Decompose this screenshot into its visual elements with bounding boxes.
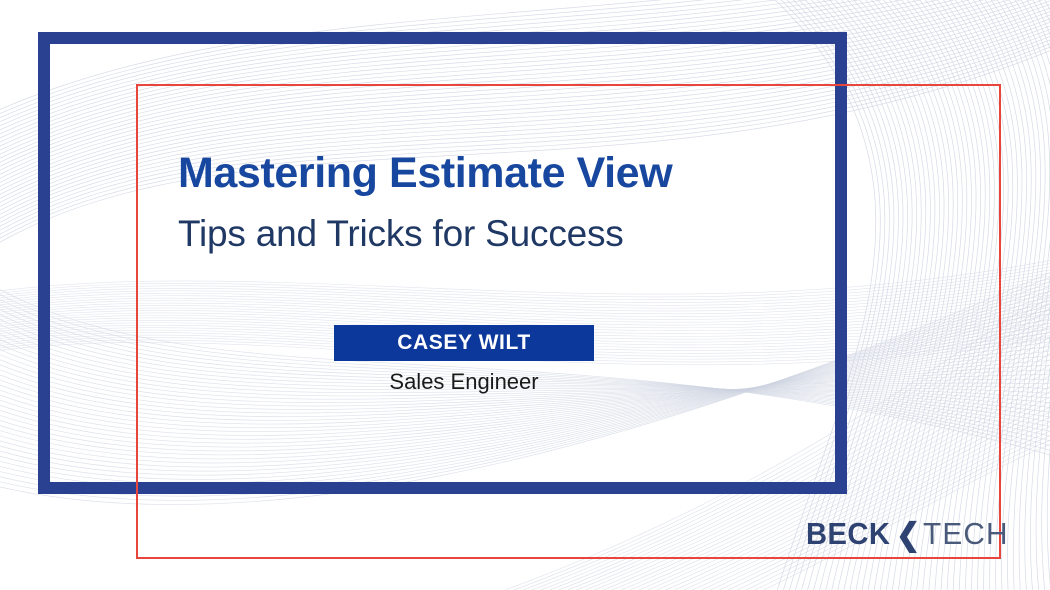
logo-tech-text: TECH	[923, 516, 1009, 552]
slide-content: Mastering Estimate View Tips and Tricks …	[0, 0, 1050, 590]
presenter-name-badge: CASEY WILT	[334, 325, 594, 361]
page-title: Mastering Estimate View	[178, 151, 672, 196]
presenter-name: CASEY WILT	[397, 331, 531, 355]
chevron-left-icon: ❮	[896, 519, 921, 550]
becktech-logo: BECK ❮ TECH	[806, 516, 1013, 552]
page-subtitle: Tips and Tricks for Success	[178, 214, 624, 255]
presenter-role: Sales Engineer	[334, 369, 594, 395]
logo-beck-text: BECK	[806, 516, 890, 552]
title-slide: Mastering Estimate View Tips and Tricks …	[0, 0, 1050, 590]
